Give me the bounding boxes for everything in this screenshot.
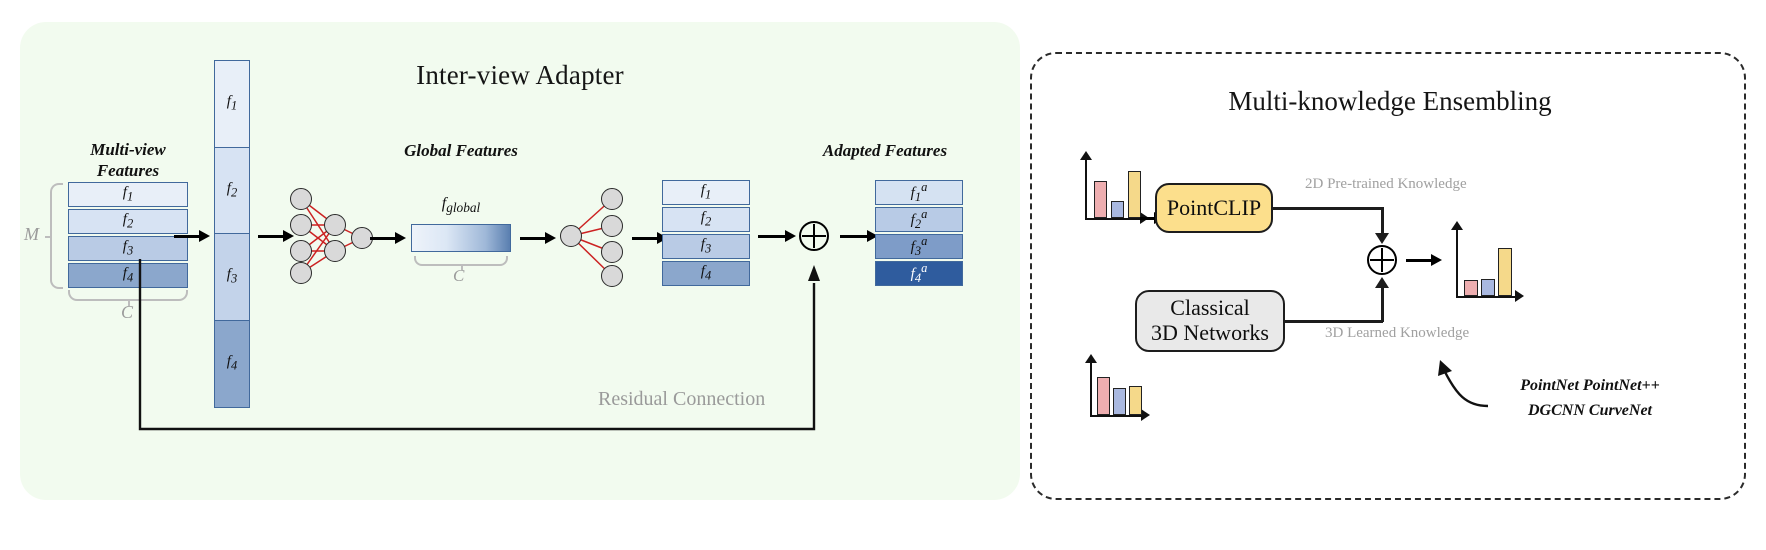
chart-bar — [1113, 388, 1126, 415]
c-dimension-label: C — [121, 302, 133, 323]
flow-arrow — [840, 230, 878, 242]
feature-label: f1 — [663, 182, 749, 202]
page-title: Inter-view Adapter — [20, 60, 1020, 91]
connector-top-arrowhead — [1375, 233, 1389, 244]
feature-label: f2 — [215, 180, 249, 200]
chart-bar — [1111, 201, 1124, 218]
flow-arrow — [258, 230, 294, 242]
network-names-callout-arrow — [1390, 348, 1500, 418]
classical-network-names: PointNet PointNet++ DGCNN CurveNet — [1490, 374, 1690, 424]
adapted-feature-row: f2a — [875, 207, 963, 232]
multiview-features-label: Multi-view Features — [38, 140, 218, 181]
adapted-features-label: Adapted Features — [790, 141, 980, 162]
adapted-feature-row: f4a — [875, 261, 963, 286]
output-feature-row: f2 — [662, 207, 750, 232]
chart-y-axis — [1085, 160, 1087, 220]
residual-connection-path — [138, 255, 828, 455]
chart-x-axis — [1090, 415, 1144, 417]
classical-3d-label: Classical 3D Networks — [1151, 296, 1269, 345]
multiview-feature-row: f2 — [68, 209, 188, 234]
connector-bottom-horizontal — [1285, 320, 1383, 323]
global-feature-bar — [411, 224, 511, 252]
chart-ensembled-logits — [1408, 222, 1498, 298]
mlp-node — [290, 188, 312, 210]
m-dimension-brace — [50, 183, 63, 289]
mlp-node — [290, 214, 312, 236]
feature-label: f4a — [876, 261, 962, 286]
connector-bottom-vertical — [1381, 288, 1384, 322]
chart-y-axis-arrowhead — [1451, 221, 1463, 230]
chart-bar — [1094, 181, 1107, 218]
multi-knowledge-ensembling-panel: Multi-knowledge Ensembling — [1030, 52, 1746, 500]
chart-y-axis-arrowhead — [1080, 151, 1092, 160]
mlp-node — [324, 214, 346, 236]
adapted-feature-stack: f1a f2a f3a f4a — [875, 180, 963, 288]
chart-bar — [1128, 171, 1141, 218]
diagram-root: Inter-view Adapter Multi-view Features M… — [0, 0, 1766, 550]
chart-x-axis-arrowhead — [1515, 290, 1524, 302]
ensembling-add-operator — [1367, 245, 1397, 275]
chart-y-axis — [1456, 230, 1458, 298]
right-panel-title: Multi-knowledge Ensembling — [1032, 86, 1748, 117]
pointclip-label: PointCLIP — [1167, 196, 1261, 221]
connector-top-horizontal — [1273, 207, 1383, 210]
global-features-label: Global Features — [371, 141, 551, 162]
chart-bar — [1129, 386, 1142, 415]
mlp-node — [560, 225, 582, 247]
classical-3d-networks-box[interactable]: Classical 3D Networks — [1135, 290, 1285, 352]
chart-y-axis-arrowhead — [1085, 354, 1097, 363]
connector-top-vertical — [1381, 207, 1384, 235]
mlp-node — [601, 188, 623, 210]
chart-bar — [1498, 248, 1512, 296]
output-feature-row: f1 — [662, 180, 750, 205]
multiview-feature-row: f1 — [68, 182, 188, 207]
flow-arrow — [370, 232, 406, 244]
flow-arrow — [520, 232, 556, 244]
chart-y-axis — [1090, 361, 1092, 417]
f-global-label: fglobal — [411, 195, 511, 216]
flow-arrow — [758, 230, 796, 242]
mlp-node — [601, 215, 623, 237]
chart-bar — [1097, 377, 1110, 415]
residual-add-operator — [799, 221, 829, 251]
residual-connection-label: Residual Connection — [598, 388, 765, 411]
adapted-feature-row: f3a — [875, 234, 963, 259]
flow-arrow — [174, 230, 210, 242]
edge-label-3d-knowledge: 3D Learned Knowledge — [1325, 325, 1469, 342]
feature-label: f2 — [663, 209, 749, 229]
feature-label: f1a — [876, 180, 962, 205]
chart-bar — [1464, 280, 1478, 296]
pointclip-box[interactable]: PointCLIP — [1155, 183, 1273, 233]
chart-x-axis — [1085, 218, 1143, 220]
concat-segment: f1 — [214, 60, 250, 148]
chart-bar — [1481, 279, 1495, 296]
feature-label: f3 — [663, 236, 749, 256]
feature-label: f2 — [69, 211, 187, 231]
chart-pointclip-input-logits — [1078, 152, 1148, 220]
m-dimension-label: M — [24, 224, 39, 245]
feature-label: f2a — [876, 207, 962, 232]
chart-x-axis-arrowhead — [1141, 409, 1150, 421]
connector-bottom-arrowhead — [1375, 277, 1389, 288]
feature-label: f3a — [876, 234, 962, 259]
feature-label: f1 — [215, 94, 249, 114]
concat-segment: f2 — [214, 147, 250, 235]
chart-x-axis — [1456, 296, 1518, 298]
feature-label: f1 — [69, 184, 187, 204]
adapted-feature-row: f1a — [875, 180, 963, 205]
chart-classical3d-input-logits — [1083, 355, 1153, 417]
edge-label-2d-knowledge: 2D Pre-trained Knowledge — [1305, 176, 1467, 193]
